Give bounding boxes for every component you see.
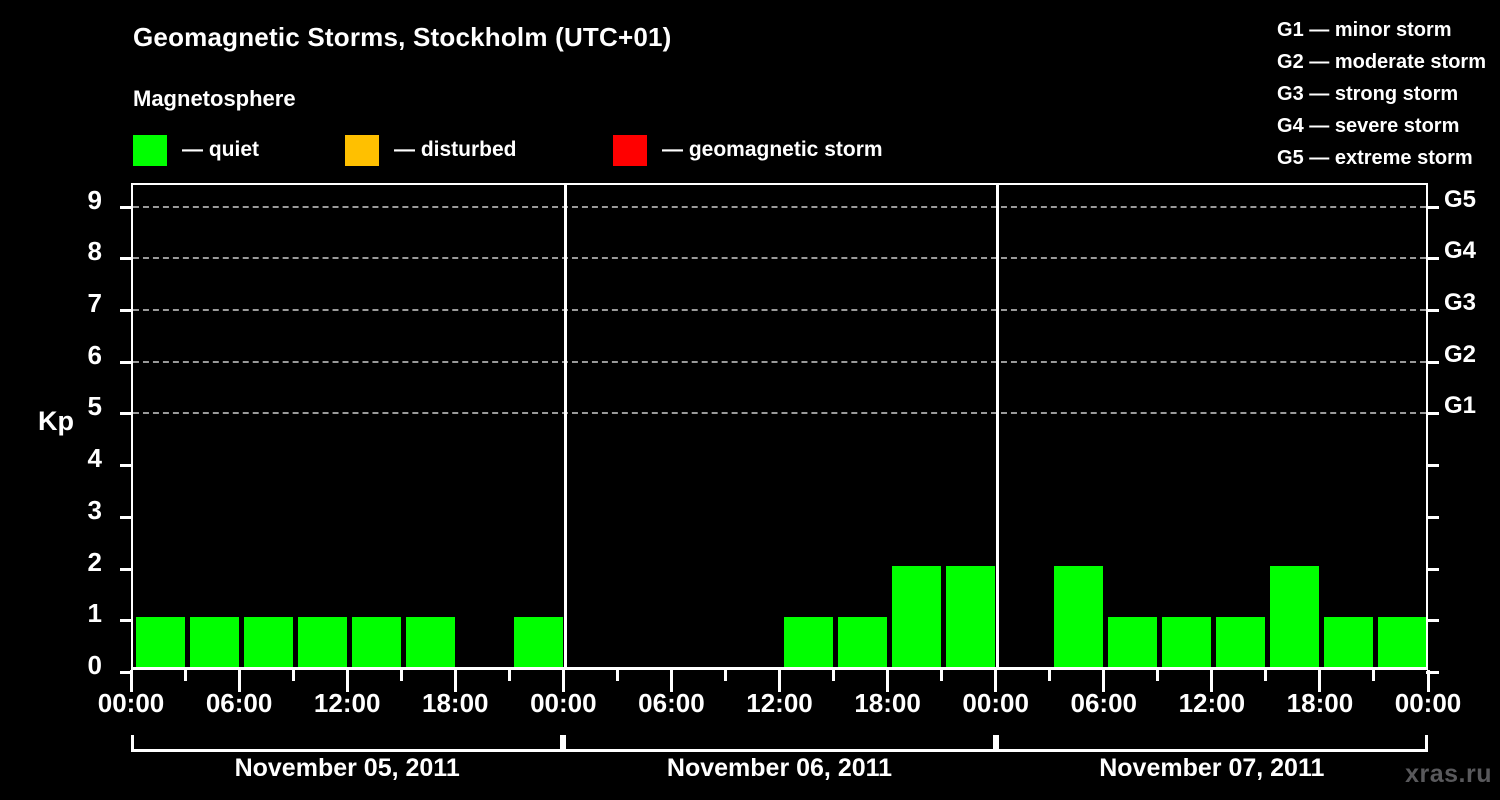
y-tick-3: [120, 516, 133, 519]
y-tick-label-4: 4: [42, 443, 102, 474]
bar-2: [244, 617, 293, 669]
y-right-label-G1: G1: [1444, 392, 1500, 420]
legend-entry-storm: — geomagnetic storm: [613, 133, 883, 167]
y-right-minor-tick-2: [1426, 568, 1439, 571]
y-right-tick-G5: [1426, 206, 1439, 209]
g-scale-item-1: G1 — minor storm: [1277, 14, 1486, 46]
bar-1: [190, 617, 239, 669]
g-scale-item-4: G4 — severe storm: [1277, 110, 1486, 142]
y-tick-label-0: 0: [42, 650, 102, 681]
legend-entry-quiet: — quiet: [133, 133, 259, 167]
bar-5: [406, 617, 455, 669]
series-label: Magnetosphere: [133, 86, 296, 112]
g-scale-item-5: G5 — extreme storm: [1277, 142, 1486, 174]
y-tick-1: [120, 619, 133, 622]
bar-14: [892, 566, 941, 669]
y-tick-label-9: 9: [42, 185, 102, 216]
disturbed-swatch: [345, 135, 379, 166]
bar-20: [1216, 617, 1265, 669]
bar-18: [1108, 617, 1157, 669]
bar-12: [784, 617, 833, 669]
gridline-kp-7: [133, 309, 1426, 311]
x-tick-minor-3: [292, 670, 295, 681]
bar-4: [352, 617, 401, 669]
legend-label: — disturbed: [394, 138, 517, 162]
y-right-minor-tick-1: [1426, 619, 1439, 622]
watermark: xras.ru: [1405, 760, 1492, 789]
y-tick-label-7: 7: [42, 288, 102, 319]
legend-label: — geomagnetic storm: [662, 138, 883, 162]
y-tick-5: [120, 412, 133, 415]
bar-7: [514, 617, 563, 669]
date-caption-1: November 05, 2011: [131, 754, 563, 783]
y-tick-7: [120, 309, 133, 312]
day-separator-1: [564, 185, 567, 669]
y-tick-label-6: 6: [42, 340, 102, 371]
plot-area: [133, 185, 1426, 669]
y-right-label-G5: G5: [1444, 186, 1500, 214]
y-right-label-G3: G3: [1444, 289, 1500, 317]
y-right-minor-tick-3: [1426, 516, 1439, 519]
y-right-label-G2: G2: [1444, 341, 1500, 369]
bar-3: [298, 617, 347, 669]
x-tick-minor-9: [616, 670, 619, 681]
day-bracket-2: [563, 735, 995, 752]
date-caption-3: November 07, 2011: [996, 754, 1428, 783]
g-scale-item-3: G3 — strong storm: [1277, 78, 1486, 110]
gridline-kp-6: [133, 361, 1426, 363]
day-bracket-3: [996, 735, 1428, 752]
y-tick-label-5: 5: [42, 391, 102, 422]
y-right-minor-tick-4: [1426, 464, 1439, 467]
x-tick-minor-5: [400, 670, 403, 681]
quiet-swatch: [133, 135, 167, 166]
x-tick-minor-13: [832, 670, 835, 681]
bar-0: [136, 617, 185, 669]
date-caption-2: November 06, 2011: [563, 754, 995, 783]
bar-17: [1054, 566, 1103, 669]
storm-swatch: [613, 135, 647, 166]
x-tick-minor-23: [1372, 670, 1375, 681]
x-tick-minor-17: [1048, 670, 1051, 681]
day-separator-2: [996, 185, 999, 669]
y-tick-8: [120, 257, 133, 260]
y-right-label-G4: G4: [1444, 237, 1500, 265]
y-tick-2: [120, 568, 133, 571]
y-tick-6: [120, 361, 133, 364]
x-tick-minor-21: [1264, 670, 1267, 681]
legend-entry-disturbed: — disturbed: [345, 133, 517, 167]
y-tick-label-8: 8: [42, 236, 102, 267]
legend-label: — quiet: [182, 138, 259, 162]
day-bracket-1: [131, 735, 563, 752]
y-right-tick-G1: [1426, 412, 1439, 415]
x-tick-minor-15: [940, 670, 943, 681]
plot-frame: [131, 183, 1428, 669]
g-scale-legend: G1 — minor stormG2 — moderate stormG3 — …: [1277, 14, 1486, 174]
bar-19: [1162, 617, 1211, 669]
x-tick-minor-7: [508, 670, 511, 681]
y-tick-label-1: 1: [42, 598, 102, 629]
bar-13: [838, 617, 887, 669]
gridline-kp-9: [133, 206, 1426, 208]
y-tick-label-3: 3: [42, 495, 102, 526]
x-tick-minor-11: [724, 670, 727, 681]
y-right-tick-G3: [1426, 309, 1439, 312]
bar-21: [1270, 566, 1319, 669]
x-tick-minor-19: [1156, 670, 1159, 681]
y-tick-9: [120, 206, 133, 209]
y-tick-4: [120, 464, 133, 467]
x-tick-minor-1: [184, 670, 187, 681]
y-right-tick-G4: [1426, 257, 1439, 260]
gridline-kp-5: [133, 412, 1426, 414]
bar-23: [1378, 617, 1426, 669]
bar-22: [1324, 617, 1373, 669]
page-title: Geomagnetic Storms, Stockholm (UTC+01): [133, 22, 672, 53]
gridline-kp-8: [133, 257, 1426, 259]
bar-15: [946, 566, 995, 669]
x-axis-label-12: 00:00: [1363, 688, 1493, 719]
y-tick-label-2: 2: [42, 547, 102, 578]
y-right-tick-G2: [1426, 361, 1439, 364]
g-scale-item-2: G2 — moderate storm: [1277, 46, 1486, 78]
